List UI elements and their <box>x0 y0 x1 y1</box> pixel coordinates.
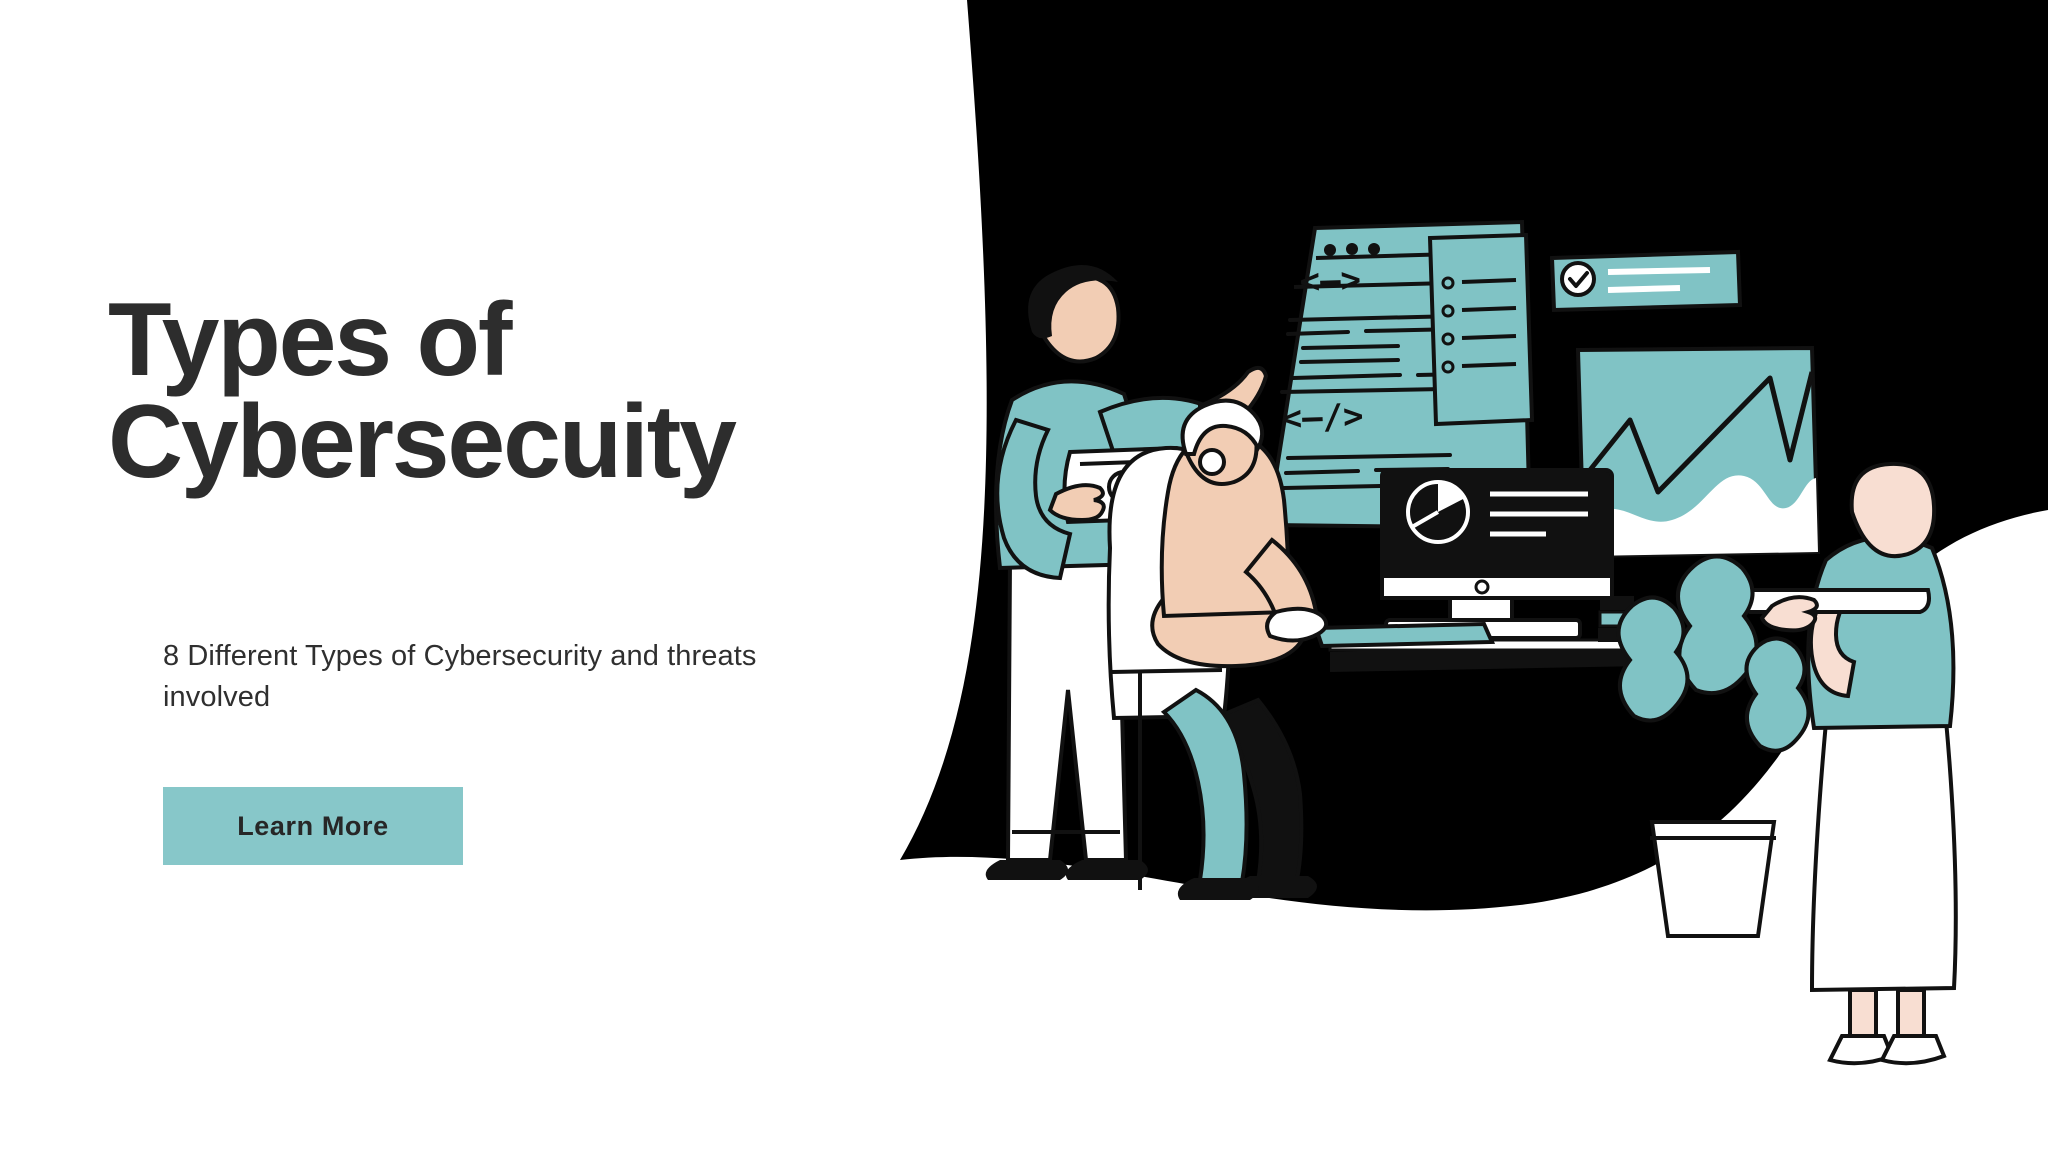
notification-card <box>1552 252 1740 310</box>
check-circle-icon <box>1562 263 1594 295</box>
hero-banner: <—> <—/> <box>0 0 2048 1152</box>
page-title: Types of Cybersecuity <box>108 290 928 494</box>
hero-subtitle: 8 Different Types of Cybersecurity and t… <box>163 636 863 718</box>
window-dots <box>1324 243 1380 256</box>
headline-line-2: Cybersecuity <box>108 392 928 494</box>
hero-copy: Types of Cybersecuity 8 Different Types … <box>0 0 960 1152</box>
code-tag-open: <—> <box>1299 260 1362 302</box>
learn-more-button[interactable]: Learn More <box>163 787 463 865</box>
code-tag-close: <—/> <box>1281 396 1364 439</box>
headline-line-1: Types of <box>108 282 510 398</box>
